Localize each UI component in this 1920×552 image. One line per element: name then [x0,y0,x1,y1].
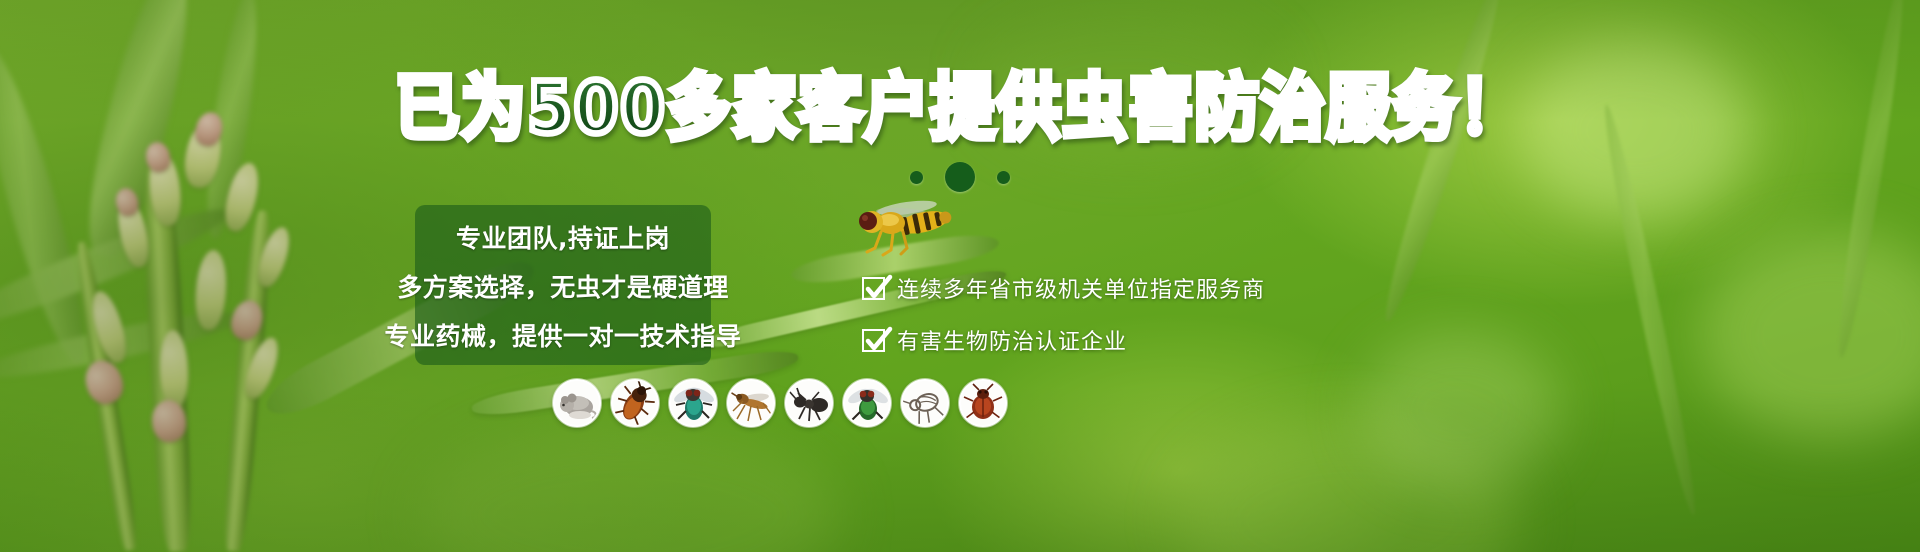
pest-icon-mouse [553,379,601,427]
credential-text: 有害生物防治认证企业 [897,324,1127,356]
pest-icon-bedbug [959,379,1007,427]
list-item: 连续多年省市级机关单位指定服务商 [862,272,1265,304]
checkbox-checked-icon [862,277,885,300]
feature-highlight-box: 专业团队,持证上岗 多方案选择，无虫才是硬道理 专业药械，提供一对一技术指导 [415,205,711,365]
feature-line-3: 专业药械，提供一对一技术指导 [385,317,742,353]
pest-icon-flea [901,379,949,427]
hoverfly-on-stem-photo [845,196,965,258]
credentials-list: 连续多年省市级机关单位指定服务商 有害生物防治认证企业 [862,272,1265,356]
dot-small-left-icon [910,171,923,184]
feature-line-2: 多方案选择，无虫才是硬道理 [397,268,729,304]
dot-small-right-icon [997,171,1010,184]
feature-line-1: 专业团队,持证上岗 [456,219,670,255]
pest-icon-cockroach [611,379,659,427]
checkbox-checked-icon [862,329,885,352]
pest-icon-row [553,379,1007,427]
list-item: 有害生物防治认证企业 [862,324,1265,356]
pest-icon-ant [785,379,833,427]
credential-text: 连续多年省市级机关单位指定服务商 [897,272,1265,304]
pest-icon-bluefly [669,379,717,427]
promo-banner: 已为500多家客户提供虫害防治服务！ 专业团队,持证上岗 多方案选择，无虫才是硬… [0,0,1920,552]
banner-headline: 已为500多家客户提供虫害防治服务！ [0,70,1920,142]
headline-text: 已为500多家客户提供虫害防治服务！ [395,70,1525,150]
pest-icon-mosquito [727,379,775,427]
pest-icon-greenfly [843,379,891,427]
decorative-dots [0,162,1920,192]
dot-large-center-icon [945,162,975,192]
